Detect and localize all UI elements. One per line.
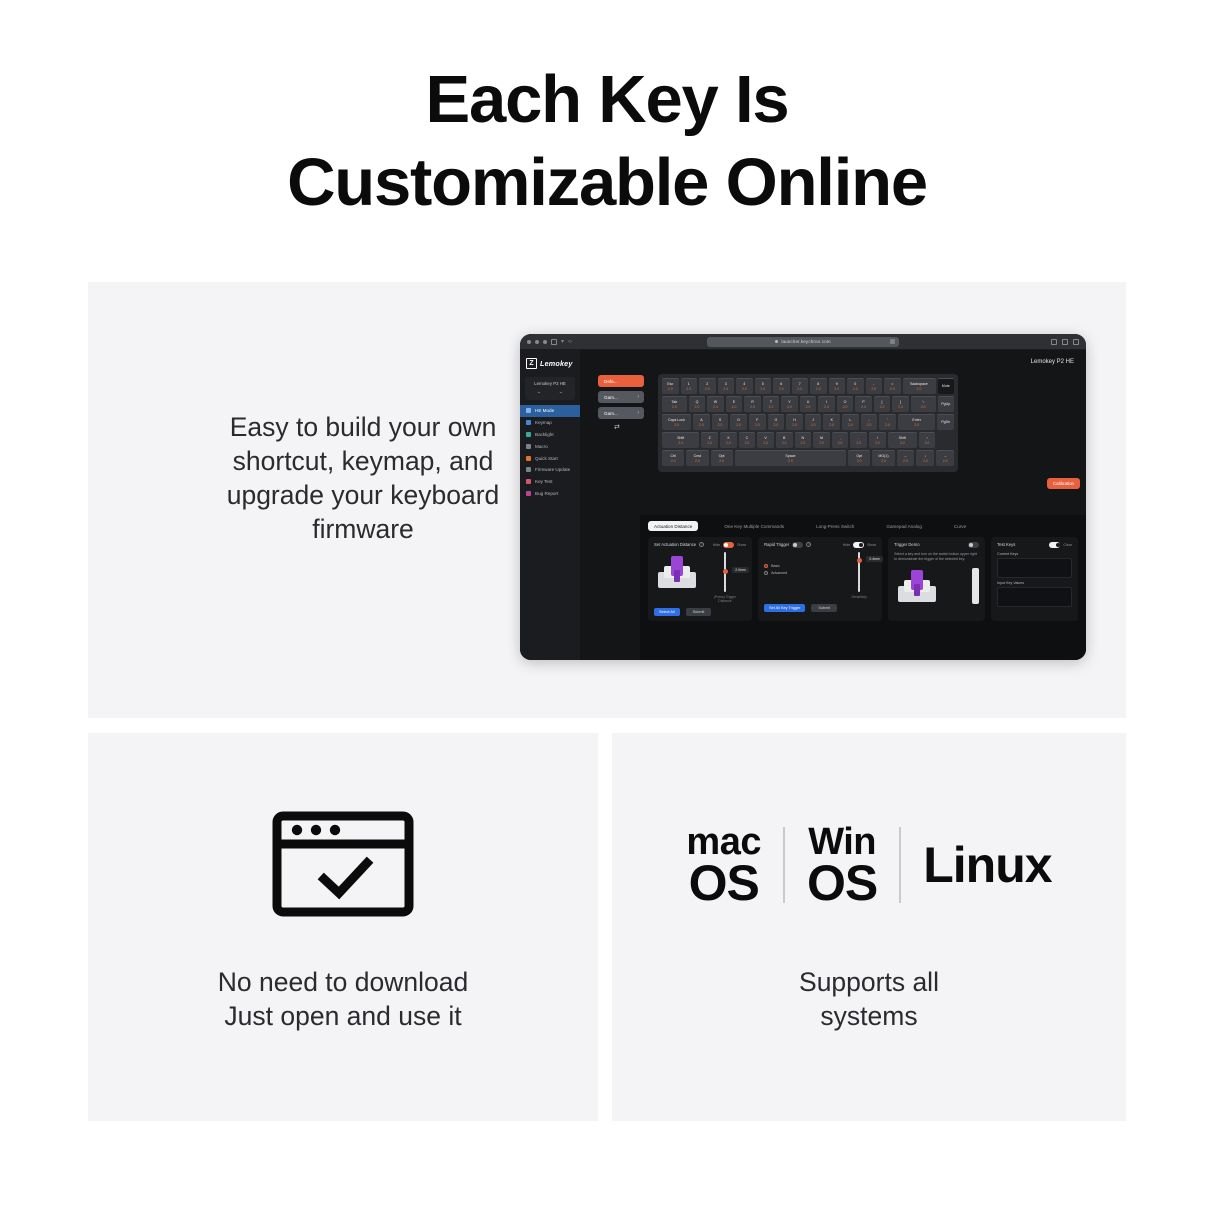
- key-actuation-value: 2.0: [779, 387, 784, 391]
- panel-actuation-distance: Set Actuation Distance ? Hide Show: [648, 537, 752, 621]
- feature-card-software: Easy to build your own shortcut, keymap,…: [88, 282, 1126, 718]
- key-actuation-value: 2.0: [923, 459, 928, 463]
- keyboard-row: Shift2.0Z2.0X2.0C2.0V2.0B2.0N2.0M2.0,2.0…: [662, 432, 954, 448]
- keyboard-key[interactable]: Backspace2.0: [903, 378, 936, 394]
- keyboard-row: Esc2.012.022.032.042.052.062.072.082.092…: [662, 378, 954, 394]
- toggle-off-label: Hide: [843, 543, 850, 547]
- profile-label: Gam...: [604, 395, 618, 400]
- keyboard-key[interactable]: V2.0: [757, 432, 774, 448]
- keyboard-key[interactable]: Opt2.0: [848, 450, 870, 466]
- keyboard-key[interactable]: PgDn: [937, 414, 954, 430]
- keyboard-key[interactable]: ]2.0: [892, 396, 909, 412]
- submit-button[interactable]: Submit: [686, 608, 712, 617]
- macro-icon: [526, 444, 531, 449]
- window-close-dot[interactable]: [527, 340, 531, 344]
- keyboard-key[interactable]: W2.0: [707, 396, 724, 412]
- key-actuation-value: 2.0: [903, 459, 908, 463]
- key-actuation-value: 2.0: [736, 423, 741, 427]
- input-key-values-label: Input Key Values: [997, 581, 1072, 585]
- actuation-slider[interactable]: 2.0mm (Press) Trigger Distance: [708, 552, 742, 603]
- radio-label: Basic: [771, 564, 780, 568]
- key-actuation-value: 2.0: [732, 405, 737, 409]
- keyboard-key[interactable]: PgUp: [938, 396, 955, 412]
- key-actuation-value: 2.0: [921, 405, 926, 409]
- profile-label: Gam...: [604, 411, 618, 416]
- keyboard-row: Tab2.0Q2.0W2.0E2.0R2.0T2.0Y2.0U2.0I2.0O2…: [662, 396, 954, 412]
- keyboard-key[interactable]: A2.0: [693, 414, 710, 430]
- keyboard-key[interactable]: Z2.0: [701, 432, 718, 448]
- key-actuation-value: 2.0: [853, 387, 858, 391]
- key-actuation-value: 2.0: [800, 441, 805, 445]
- keymap-icon: [526, 420, 531, 425]
- keyboard-key-blank: [937, 432, 954, 448]
- key-actuation-value: 2.0: [943, 459, 948, 463]
- key-actuation-value: 2.0: [819, 441, 824, 445]
- feature-card-os-support: mac OS Win OS Linux Supports all systems: [612, 733, 1126, 1121]
- mode-options: Basic Advanced: [764, 552, 816, 599]
- key-actuation-value: 2.0: [774, 423, 779, 427]
- sidebar-label: Bug Report: [535, 491, 558, 496]
- keyboard-key[interactable]: 82.0: [810, 378, 827, 394]
- browser-window-check-icon: [272, 811, 414, 922]
- keyboard-title: Lemokey P2 HE: [1031, 359, 1074, 365]
- keyboard-key[interactable]: J2.0: [805, 414, 822, 430]
- key-actuation-value: 2.0: [745, 441, 750, 445]
- keyboard-key[interactable]: /2.0: [869, 432, 886, 448]
- key-actuation-value: 2.0: [857, 459, 862, 463]
- page-title-line-1: Each Key Is: [426, 62, 789, 137]
- address-bar[interactable]: launcher.keychron.com: [707, 337, 899, 347]
- key-actuation-value: 2.0: [787, 405, 792, 409]
- key-actuation-value: 2.0: [861, 405, 866, 409]
- panels-row: Set Actuation Distance ? Hide Show: [648, 537, 1078, 621]
- tab-long-press-switch[interactable]: Long-Press Switch: [810, 521, 860, 531]
- key-actuation-value: 2.0: [686, 387, 691, 391]
- sidebar-label: Quick Start: [535, 456, 558, 461]
- key-actuation-value: 2.0: [838, 441, 843, 445]
- sidebar-item-quick-start[interactable]: Quick Start: [520, 452, 580, 464]
- sidebar-item-macro[interactable]: Macro: [520, 440, 580, 452]
- key-actuation-value: 2.0: [875, 441, 880, 445]
- keyboard-key[interactable]: B2.0: [776, 432, 793, 448]
- keyboard-key[interactable]: S2.0: [712, 414, 729, 430]
- keyboard-key[interactable]: 92.0: [829, 378, 846, 394]
- keyboard-key[interactable]: Caps Lock2.0: [662, 414, 691, 430]
- sidebar-item-keymap[interactable]: Keymap: [520, 417, 580, 429]
- sidebar-label: Firmware Update: [535, 467, 570, 472]
- current-keys-field[interactable]: [997, 558, 1072, 578]
- submit-button[interactable]: Submit: [811, 604, 837, 613]
- key-actuation-value: 2.0: [843, 405, 848, 409]
- key-label: Mute: [942, 384, 950, 388]
- calibration-button[interactable]: Calibration: [1047, 478, 1080, 489]
- key-actuation-value: 2.0: [829, 423, 834, 427]
- keyboard-key[interactable]: Mute: [938, 378, 955, 394]
- panel-title: Set Actuation Distance ?: [654, 542, 704, 547]
- radio-advanced[interactable]: Advanced: [764, 571, 816, 575]
- app-main: Lemokey P2 HE Defa... Gam... › Gam... ›: [580, 350, 1086, 660]
- radio-label: Advanced: [771, 571, 787, 575]
- keyboard-key[interactable]: 42.0: [736, 378, 753, 394]
- keyboard-key[interactable]: 52.0: [755, 378, 772, 394]
- radio-basic[interactable]: Basic: [764, 564, 816, 568]
- os-support-caption: Supports all systems: [612, 965, 1126, 1033]
- panel-footer: Select All Submit: [654, 608, 746, 617]
- page-title: Each Key Is Customizable Online: [0, 58, 1214, 224]
- bug-icon: [526, 491, 531, 496]
- key-actuation-value: 2.0: [890, 387, 895, 391]
- key-actuation-value: 2.0: [668, 387, 673, 391]
- keyboard-key[interactable]: ;2.0: [861, 414, 878, 430]
- keyboard-key[interactable]: M2.0: [813, 432, 830, 448]
- panel-rapid-trigger: Rapid Trigger ? Hide Show: [758, 537, 882, 621]
- feature-card-description: Easy to build your own shortcut, keymap,…: [198, 410, 528, 546]
- keyboard-key[interactable]: U2.0: [800, 396, 817, 412]
- key-actuation-value: 2.0: [917, 387, 922, 391]
- key-actuation-value: 2.0: [914, 423, 919, 427]
- switch-stem-inner: [914, 584, 920, 596]
- panel-body: [894, 566, 979, 604]
- sidebar-label: HE Mode: [535, 408, 554, 413]
- panel-header: Rapid Trigger ? Hide Show: [764, 542, 876, 548]
- keyboard-key[interactable]: ↓2.0: [916, 450, 934, 466]
- keyboard-key[interactable]: H2.0: [786, 414, 803, 430]
- caption-line-1: Supports all: [799, 967, 939, 997]
- toggle-on-label: Show: [737, 543, 746, 547]
- key-actuation-value: 2.0: [898, 405, 903, 409]
- keyboard-key[interactable]: Y2.0: [781, 396, 798, 412]
- os-macos-bottom: OS: [686, 860, 761, 906]
- panel-title: Test Keys: [997, 542, 1015, 547]
- key-actuation-value: 2.0: [788, 459, 793, 463]
- chevron-down-icon[interactable]: ▾: [561, 339, 564, 345]
- travel-bar: [972, 568, 979, 604]
- key-actuation-value: 2.0: [742, 387, 747, 391]
- keyboard-key[interactable]: Q2.0: [689, 396, 706, 412]
- switch-illustration: [654, 552, 702, 590]
- keyboard-key[interactable]: 72.0: [792, 378, 809, 394]
- sidebar-item-key-test[interactable]: Key Test: [520, 476, 580, 488]
- app-logo: Z Lemokey: [520, 355, 580, 375]
- key-actuation-value: 2.0: [699, 423, 704, 427]
- keyboard-key[interactable]: 12.0: [681, 378, 698, 394]
- sidebar-item-bug-report[interactable]: Bug Report: [520, 487, 580, 499]
- keyboard-key[interactable]: T2.0: [763, 396, 780, 412]
- keyboard-key[interactable]: G2.0: [768, 414, 785, 430]
- key-actuation-value: 2.0: [871, 387, 876, 391]
- tab-gamepad-analog[interactable]: Gamepad Analog: [880, 521, 928, 531]
- os-linux: Linux: [923, 836, 1051, 894]
- keyboard-key[interactable]: Space2.0: [735, 450, 846, 466]
- app-sidebar: Z Lemokey Lemokey P2 HE ⌁ ⌁ HE Mod: [520, 350, 580, 660]
- slider-caption: Sensitivity: [852, 595, 867, 599]
- settings-panel: Actuation Distance One Key Multiple Comm…: [640, 515, 1086, 660]
- panel-body: Basic Advanced: [764, 552, 876, 599]
- keyboard-layout[interactable]: Esc2.012.022.032.042.052.062.072.082.092…: [658, 374, 958, 472]
- panel-test-keys: Test Keys Clear Current Keys Input K: [991, 537, 1078, 621]
- key-actuation-value: 2.0: [674, 423, 679, 427]
- key-actuation-value: 2.0: [755, 423, 760, 427]
- select-all-button[interactable]: Select All: [654, 608, 680, 617]
- keyboard-key[interactable]: R2.0: [744, 396, 761, 412]
- back-forward-icon[interactable]: ‹›: [568, 339, 572, 345]
- panel-title: Rapid Trigger ?: [764, 542, 811, 548]
- sidebar-label: Keymap: [535, 420, 552, 425]
- rocket-icon: [526, 456, 531, 461]
- key-actuation-value: 2.0: [806, 405, 811, 409]
- keyboard-key[interactable]: F2.0: [749, 414, 766, 430]
- new-tab-icon[interactable]: [1062, 339, 1068, 345]
- keyboard-key[interactable]: ,2.0: [832, 432, 849, 448]
- browser-toolbar-right: [1051, 339, 1079, 345]
- toggle-label: Clear: [1063, 543, 1072, 547]
- key-actuation-value: 2.0: [856, 441, 861, 445]
- key-actuation-value: 2.0: [726, 441, 731, 445]
- device-name: Lemokey P2 HE: [528, 381, 572, 386]
- os-divider: [783, 827, 785, 903]
- lemokey-logo-icon: Z: [526, 358, 537, 369]
- keyboard-key[interactable]: N2.0: [795, 432, 812, 448]
- key-actuation-value: 2.0: [925, 441, 930, 445]
- keyboard-key[interactable]: 62.0: [773, 378, 790, 394]
- key-actuation-value: 2.0: [834, 387, 839, 391]
- keyboard-key[interactable]: =2.0: [884, 378, 901, 394]
- feature-card-no-download: No need to download Just open and use it: [88, 733, 598, 1121]
- caption-line-2: systems: [820, 1001, 917, 1031]
- shuffle-icon[interactable]: ⇄: [614, 423, 644, 431]
- keyboard-key[interactable]: ↑2.0: [919, 432, 936, 448]
- panel-trigger-demo: Trigger Demo Select a key and turn on th…: [888, 537, 985, 621]
- os-macos: mac OS: [686, 825, 761, 906]
- help-icon[interactable]: ?: [699, 542, 704, 547]
- slider-value-badge: 2.0mm: [732, 567, 748, 574]
- panel-description: Select a key and turn on the switch butt…: [894, 552, 979, 562]
- os-windows-bottom: OS: [807, 860, 877, 906]
- os-divider: [899, 827, 901, 903]
- share-icon[interactable]: [1051, 339, 1057, 345]
- key-actuation-value: 2.0: [671, 459, 676, 463]
- sidebar-label: Backlight: [535, 432, 554, 437]
- key-actuation-value: 2.0: [707, 441, 712, 445]
- radio-icon: [764, 571, 768, 575]
- toggle-switch[interactable]: [723, 542, 734, 548]
- keyboard-key[interactable]: →2.0: [936, 450, 954, 466]
- usb-icon[interactable]: ⌁: [559, 390, 562, 396]
- slider-knob[interactable]: [857, 558, 862, 563]
- he-mode-icon: [526, 408, 531, 413]
- backlight-icon: [526, 432, 531, 437]
- caption-line-1: No need to download: [218, 967, 468, 997]
- profile-label: Defa...: [604, 379, 618, 384]
- app-brand-name: Lemokey: [540, 359, 573, 368]
- window-minimize-dot[interactable]: [535, 340, 539, 344]
- key-label: PgDn: [941, 420, 950, 424]
- keyboard-key[interactable]: X2.0: [720, 432, 737, 448]
- input-key-values-field[interactable]: [997, 587, 1072, 607]
- slider-track[interactable]: 2.0mm: [724, 552, 726, 592]
- keyboard-key[interactable]: D2.0: [730, 414, 747, 430]
- key-actuation-value: 2.0: [705, 387, 710, 391]
- address-bar-url: launcher.keychron.com: [781, 339, 830, 344]
- radio-icon: [764, 564, 768, 568]
- rapid-trigger-toggle[interactable]: [792, 542, 803, 548]
- sidebar-nav: HE Mode Keymap Backlight Macro: [520, 405, 580, 499]
- sidebar-label: Macro: [535, 444, 548, 449]
- keyboard-row: Caps Lock2.0A2.0S2.0D2.0F2.0G2.0H2.0J2.0…: [662, 414, 954, 430]
- key-actuation-value: 2.0: [881, 459, 886, 463]
- browser-chrome: ▾ ‹› launcher.keychron.com: [520, 334, 1086, 350]
- panel-title-text: Test Keys: [997, 542, 1015, 547]
- travel-bar-wrap: [972, 566, 979, 604]
- os-windows: Win OS: [807, 825, 877, 906]
- keyboard-key[interactable]: Shift2.0: [888, 432, 917, 448]
- switch-illustration: [894, 566, 942, 604]
- bluetooth-icon[interactable]: ⌁: [537, 390, 540, 396]
- key-actuation-value: 2.0: [713, 405, 718, 409]
- keyboard-key[interactable]: Ctrl2.0: [662, 450, 684, 466]
- page-title-line-2: Customizable Online: [0, 141, 1214, 224]
- key-actuation-value: 2.0: [885, 423, 890, 427]
- keyboard-key[interactable]: Enter2.0: [898, 414, 935, 430]
- keyboard-key[interactable]: '2.0: [879, 414, 896, 430]
- profile-gaming-2-button[interactable]: Gam... ›: [598, 407, 644, 419]
- sidebar-label: Key Test: [535, 479, 553, 484]
- sidebar-toggle-icon[interactable]: [551, 339, 557, 345]
- key-actuation-value: 2.0: [695, 459, 700, 463]
- key-actuation-value: 2.0: [782, 441, 787, 445]
- key-test-icon: [526, 479, 531, 484]
- key-actuation-value: 2.0: [695, 405, 700, 409]
- profile-default-button[interactable]: Defa...: [598, 375, 644, 387]
- toggle-switch[interactable]: [853, 542, 864, 548]
- key-actuation-value: 2.0: [723, 387, 728, 391]
- clear-toggle[interactable]: Clear: [1049, 542, 1072, 548]
- device-selector[interactable]: Lemokey P2 HE ⌁ ⌁: [525, 377, 575, 400]
- panel-header: Test Keys Clear: [997, 542, 1072, 548]
- key-actuation-value: 2.0: [672, 405, 677, 409]
- os-logo-row: mac OS Win OS Linux: [612, 825, 1126, 906]
- panel-title: Trigger Demo: [894, 542, 919, 547]
- help-icon[interactable]: ?: [806, 542, 811, 547]
- sidebar-item-he-mode[interactable]: HE Mode: [520, 405, 580, 417]
- key-actuation-value: 2.0: [763, 441, 768, 445]
- keyboard-key[interactable]: MO(1)2.0: [872, 450, 894, 466]
- chevron-right-icon: ›: [637, 394, 639, 400]
- panel-body: 2.0mm (Press) Trigger Distance: [654, 552, 746, 603]
- sidebar-item-firmware-update[interactable]: Firmware Update: [520, 464, 580, 476]
- keyboard-key[interactable]: ←2.0: [897, 450, 915, 466]
- window-maximize-dot[interactable]: [543, 340, 547, 344]
- key-actuation-value: 2.0: [880, 405, 885, 409]
- keyboard-key[interactable]: .2.0: [850, 432, 867, 448]
- hide-show-toggle[interactable]: Hide Show: [843, 542, 876, 548]
- key-actuation-value: 2.0: [718, 423, 723, 427]
- current-keys-label: Current Keys: [997, 552, 1072, 556]
- toggle-switch[interactable]: [1049, 542, 1060, 548]
- caption-line-2: Just open and use it: [224, 1001, 461, 1031]
- hide-show-toggle[interactable]: Hide Show: [713, 542, 746, 548]
- refresh-icon[interactable]: [890, 339, 895, 344]
- browser-mockup: ▾ ‹› launcher.keychron.com: [520, 334, 1086, 660]
- lock-icon: [775, 340, 778, 343]
- keyboard-key[interactable]: Esc2.0: [662, 378, 679, 394]
- keyboard-key[interactable]: C2.0: [739, 432, 756, 448]
- key-actuation-value: 2.0: [816, 387, 821, 391]
- keyboard-row: Ctrl2.0Cmd2.0Opt2.0Space2.0Opt2.0MO(1)2.…: [662, 450, 954, 466]
- no-download-caption: No need to download Just open and use it: [88, 965, 598, 1033]
- slider-track[interactable]: 0.4mm: [858, 552, 860, 592]
- trigger-demo-toggle[interactable]: [968, 542, 979, 548]
- slider-value-badge: 0.4mm: [866, 556, 882, 563]
- keyboard-key[interactable]: K2.0: [823, 414, 840, 430]
- key-actuation-value: 2.0: [719, 459, 724, 463]
- key-actuation-value: 2.0: [769, 405, 774, 409]
- panel-title-text: Trigger Demo: [894, 542, 919, 547]
- key-label: PgUp: [941, 402, 950, 406]
- keyboard-key[interactable]: E2.0: [726, 396, 743, 412]
- slider-caption: (Press) Trigger Distance: [708, 595, 742, 603]
- keyboard-key[interactable]: Cmd2.0: [686, 450, 708, 466]
- sidebar-item-backlight[interactable]: Backlight: [520, 429, 580, 441]
- key-actuation-value: 2.0: [760, 387, 765, 391]
- app-window: Z Lemokey Lemokey P2 HE ⌁ ⌁ HE Mod: [520, 350, 1086, 660]
- keyboard-key[interactable]: 02.0: [847, 378, 864, 394]
- keyboard-key[interactable]: [2.0: [874, 396, 891, 412]
- key-actuation-value: 2.0: [750, 405, 755, 409]
- keyboard-key[interactable]: -2.0: [866, 378, 883, 394]
- keyboard-key[interactable]: 32.0: [718, 378, 735, 394]
- key-actuation-value: 2.0: [792, 423, 797, 427]
- sensitivity-slider[interactable]: 0.4mm Sensitivity: [842, 552, 876, 599]
- tab-one-key-multiple-commands[interactable]: One Key Multiple Commands: [718, 521, 790, 531]
- toggle-off-label: Hide: [713, 543, 720, 547]
- keyboard-key[interactable]: Opt2.0: [711, 450, 733, 466]
- keyboard-key[interactable]: O2.0: [837, 396, 854, 412]
- chevron-right-icon: ›: [637, 410, 639, 416]
- keyboard-key[interactable]: Tab2.0: [662, 396, 687, 412]
- keyboard-key[interactable]: I2.0: [818, 396, 835, 412]
- profile-gaming-1-button[interactable]: Gam... ›: [598, 391, 644, 403]
- keyboard-key[interactable]: 22.0: [699, 378, 716, 394]
- keyboard-key[interactable]: Shift2.0: [662, 432, 699, 448]
- switch-stem-inner: [674, 570, 680, 582]
- profile-list: Defa... Gam... › Gam... › ⇄: [598, 375, 644, 431]
- key-actuation-value: 2.0: [797, 387, 802, 391]
- key-actuation-value: 2.0: [848, 423, 853, 427]
- keyboard-key[interactable]: P2.0: [855, 396, 872, 412]
- firmware-icon: [526, 467, 531, 472]
- toggle-on-label: Show: [867, 543, 876, 547]
- panel-header: Trigger Demo: [894, 542, 979, 548]
- tab-curve[interactable]: Curve: [948, 521, 972, 531]
- keyboard-key[interactable]: L2.0: [842, 414, 859, 430]
- key-actuation-value: 2.0: [867, 423, 872, 427]
- device-actions: ⌁ ⌁: [528, 390, 572, 396]
- keyboard-key[interactable]: \2.0: [911, 396, 936, 412]
- panel-title-text: Rapid Trigger: [764, 542, 789, 547]
- panel-footer: Set All Key Trigger Submit: [764, 604, 876, 613]
- tab-actuation-distance[interactable]: Actuation Distance: [648, 521, 698, 531]
- panel-header: Set Actuation Distance ? Hide Show: [654, 542, 746, 548]
- settings-tabs: Actuation Distance One Key Multiple Comm…: [648, 521, 1078, 531]
- key-actuation-value: 2.0: [678, 441, 683, 445]
- slider-knob[interactable]: [723, 569, 728, 574]
- tabs-overview-icon[interactable]: [1073, 339, 1079, 345]
- panel-title-text: Set Actuation Distance: [654, 542, 696, 547]
- key-actuation-value: 2.0: [811, 423, 816, 427]
- set-all-key-trigger-button[interactable]: Set All Key Trigger: [764, 604, 805, 613]
- key-actuation-value: 2.0: [824, 405, 829, 409]
